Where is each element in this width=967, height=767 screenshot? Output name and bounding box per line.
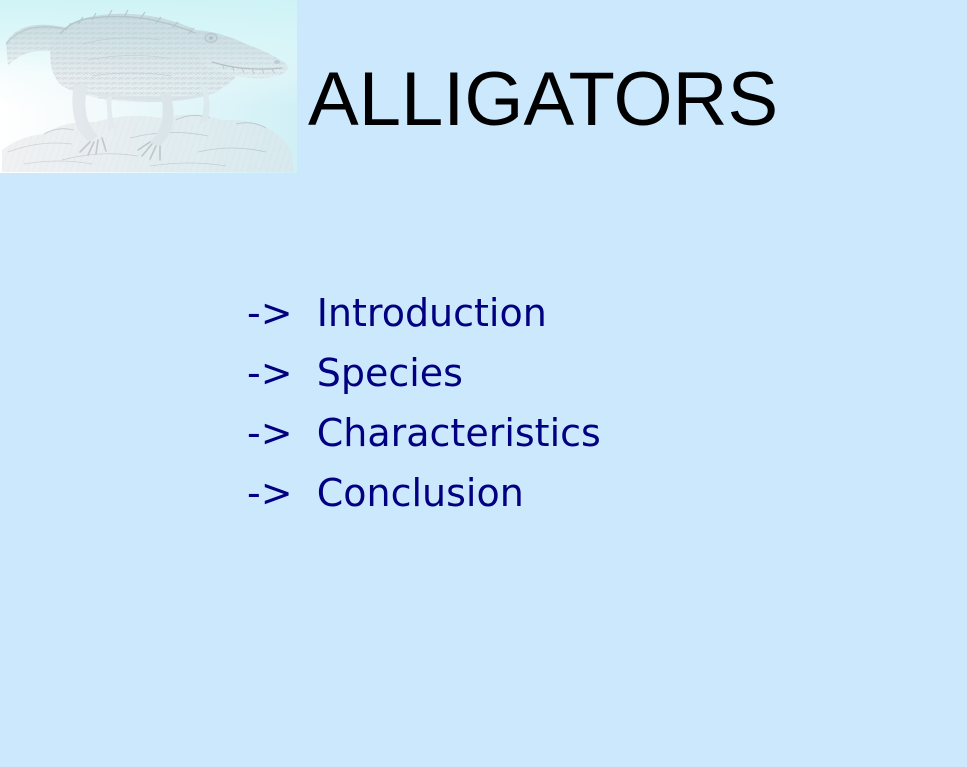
agenda-item-conclusion[interactable]: -> Conclusion xyxy=(247,463,601,523)
agenda-item-characteristics[interactable]: -> Characteristics xyxy=(247,403,601,463)
agenda-item-introduction[interactable]: -> Introduction xyxy=(247,283,601,343)
slide-title: ALLIGATORS xyxy=(308,58,778,142)
alligator-illustration xyxy=(0,0,297,173)
presentation-slide: ALLIGATORS -> Introduction -> Species ->… xyxy=(0,0,967,767)
agenda-item-species[interactable]: -> Species xyxy=(247,343,601,403)
agenda-list: -> Introduction -> Species -> Characteri… xyxy=(247,283,601,523)
alligator-engraving-icon xyxy=(0,0,297,173)
